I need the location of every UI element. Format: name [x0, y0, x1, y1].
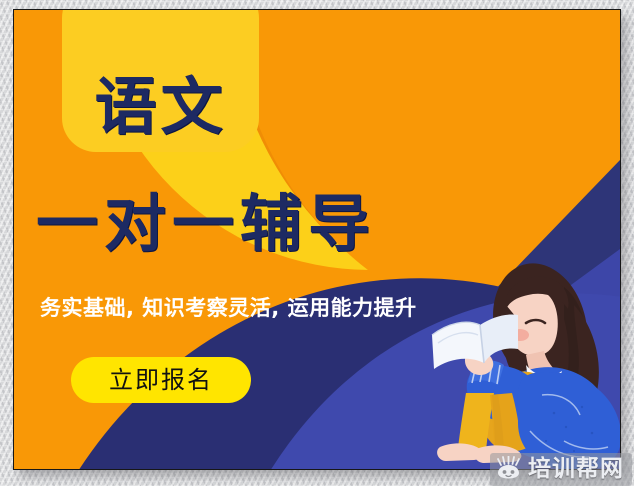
woman-reading-illustration [414, 235, 621, 470]
watermark: 培训帮网 [490, 453, 632, 486]
sun-face-icon [496, 456, 521, 483]
watermark-text: 培训帮网 [528, 458, 624, 481]
enroll-now-label: 立即报名 [109, 368, 213, 392]
page-title: 一对一辅导 [36, 193, 376, 255]
promo-banner-card: 语文 一对一辅导 务实基础, 知识考察灵活, 运用能力提升 立即报名 [13, 9, 621, 470]
subject-badge-label: 语文 [94, 76, 226, 138]
enroll-now-button[interactable]: 立即报名 [71, 357, 251, 403]
subject-badge: 语文 [62, 9, 259, 152]
banner-subtitle: 务实基础, 知识考察灵活, 运用能力提升 [40, 298, 417, 319]
